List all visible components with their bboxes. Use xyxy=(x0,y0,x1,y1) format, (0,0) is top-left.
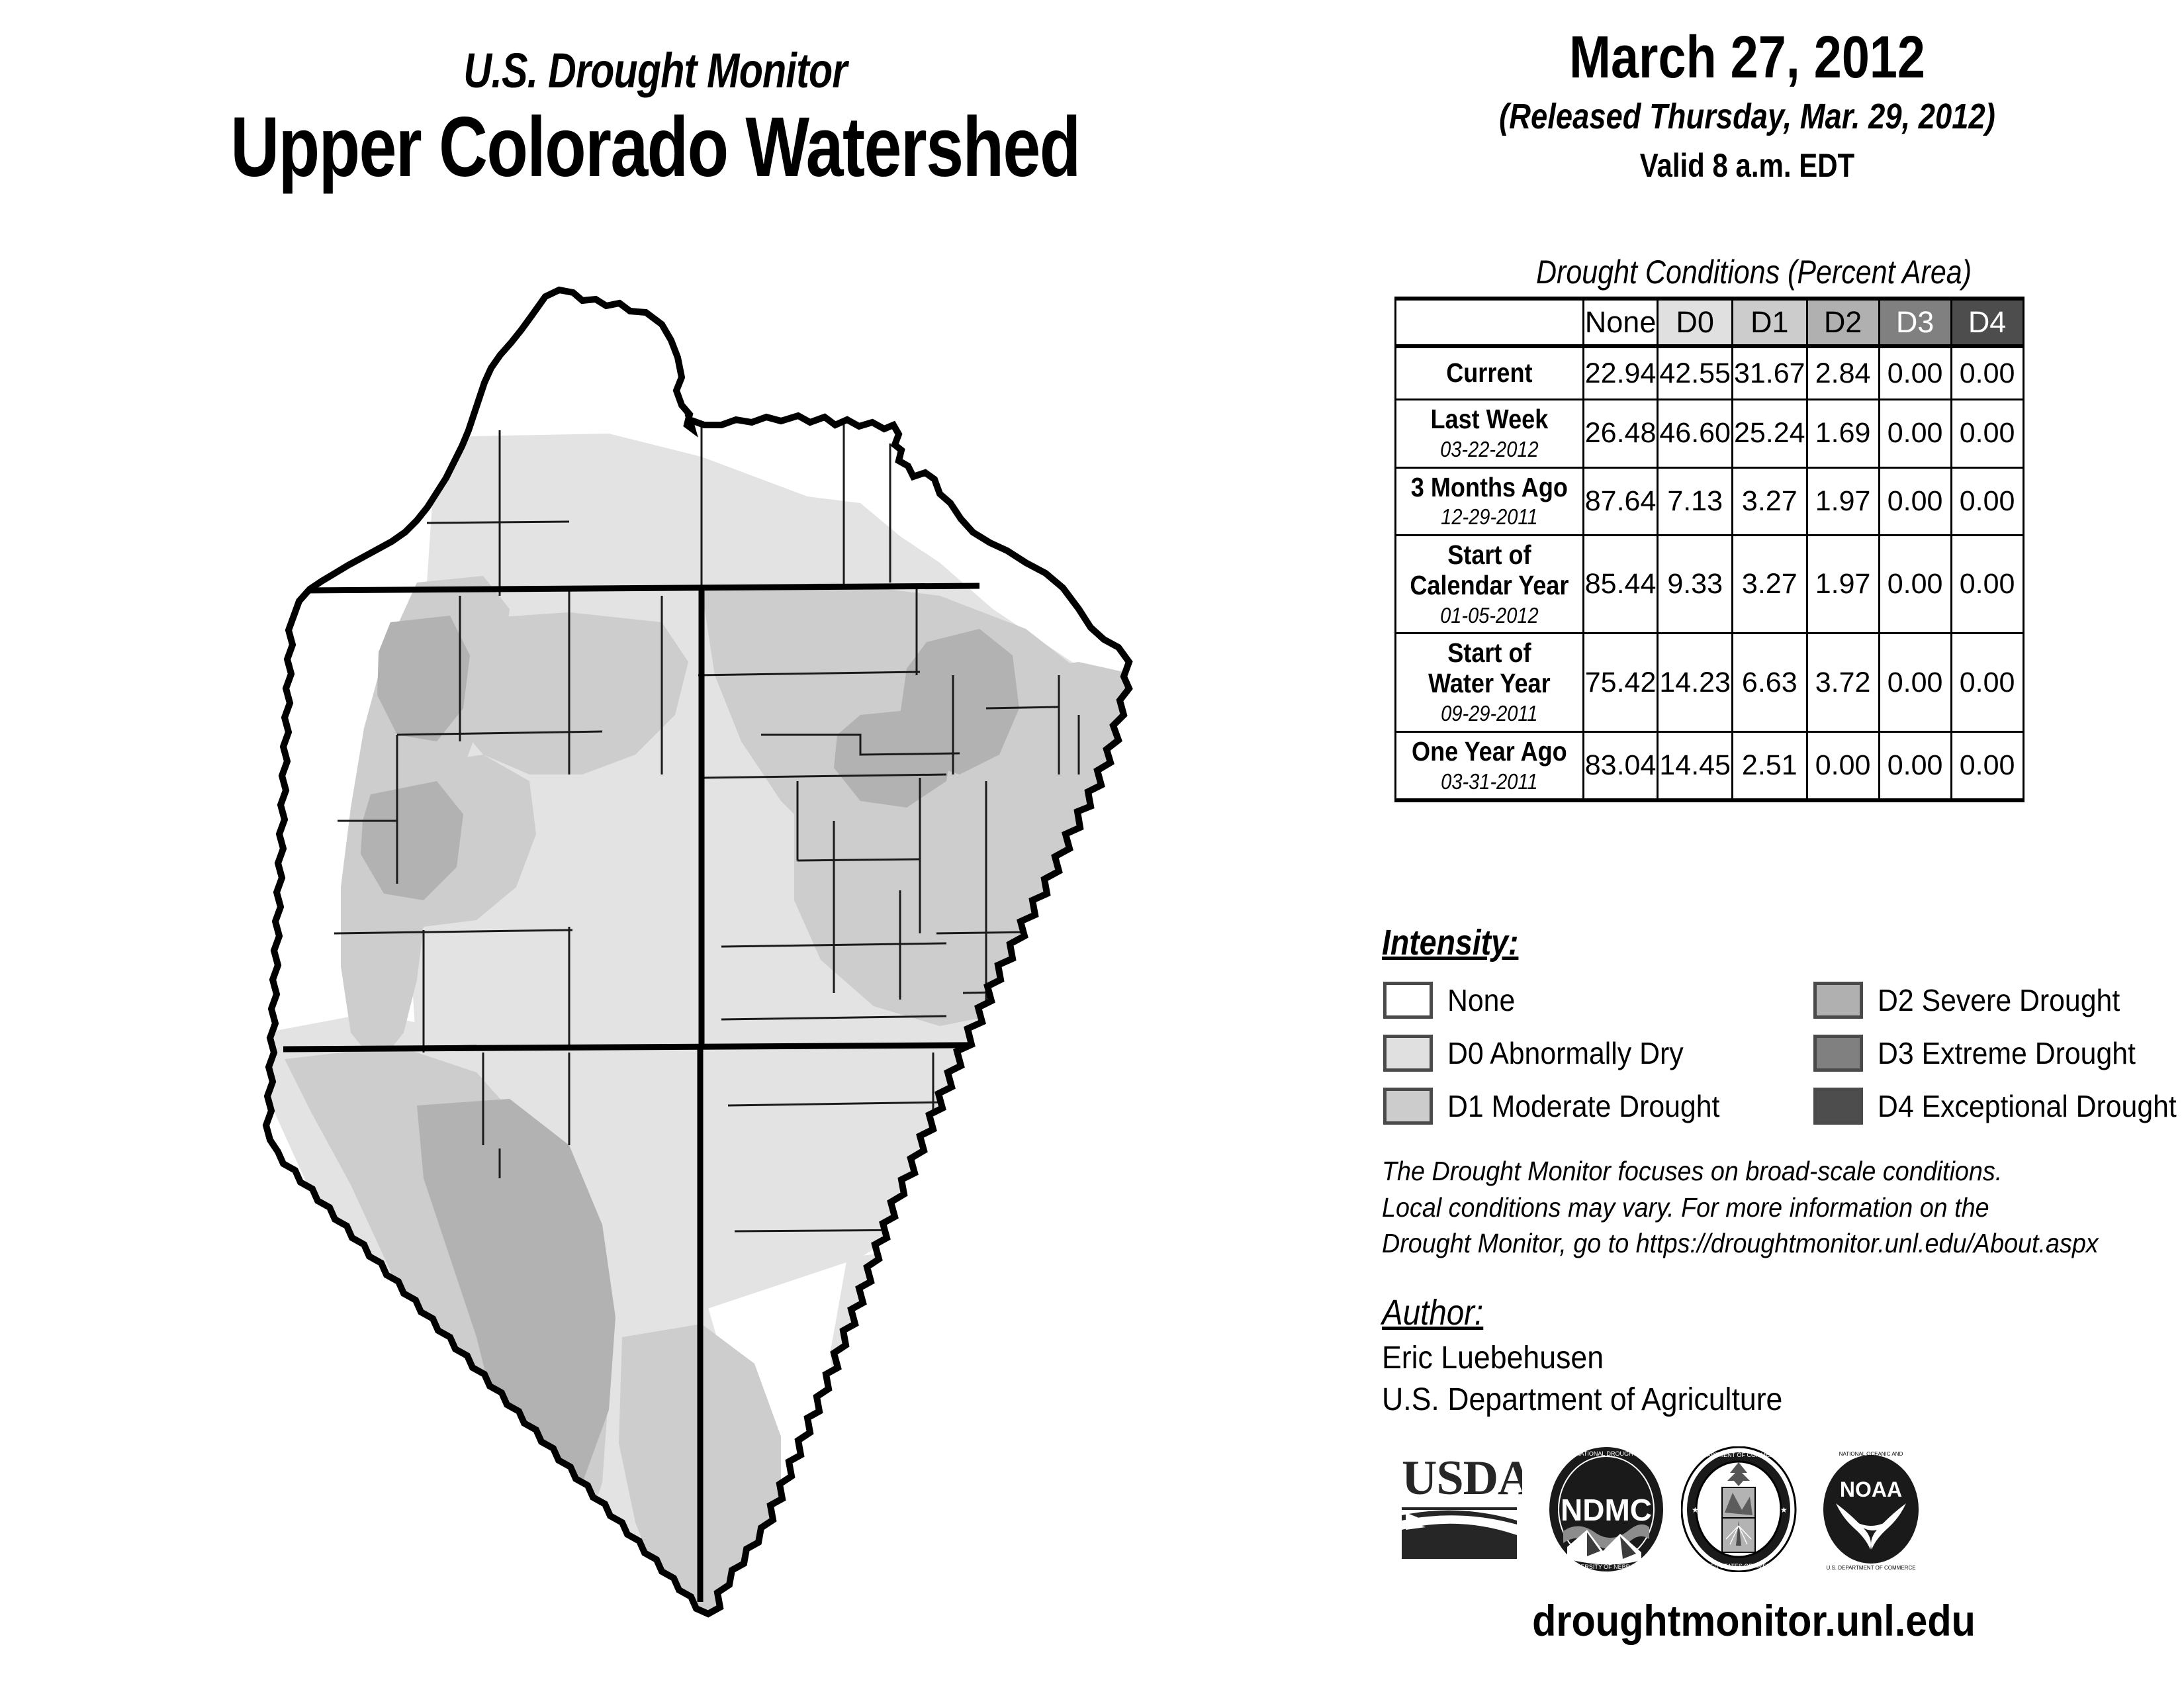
cell-d3: 0.00 xyxy=(1879,536,1951,633)
cell-d3: 0.00 xyxy=(1879,467,1951,536)
cell-d1: 2.51 xyxy=(1732,731,1807,800)
table-row: Start ofWater Year09-29-201175.4214.236.… xyxy=(1396,633,2024,731)
cell-d4: 0.00 xyxy=(1951,467,2023,536)
author-agency: U.S. Department of Agriculture xyxy=(1382,1379,1782,1421)
table-row: One Year Ago03-31-201183.0414.452.510.00… xyxy=(1396,731,2024,800)
disclaimer-line-1: Local conditions may vary. For more info… xyxy=(1382,1190,2113,1226)
cell-d1: 31.67 xyxy=(1732,346,1807,400)
author-info: Eric Luebehusen U.S. Department of Agric… xyxy=(1382,1337,1813,1421)
row-label-text: Current xyxy=(1410,358,1569,389)
cell-d0: 14.45 xyxy=(1658,731,1733,800)
svg-text:USDA: USDA xyxy=(1402,1451,1522,1505)
cell-d2: 1.97 xyxy=(1807,536,1879,633)
table-row: Current22.9442.5531.672.840.000.00 xyxy=(1396,346,2024,400)
legend-item-right-0: D2 Severe Drought xyxy=(1813,974,2184,1026)
cell-d0: 42.55 xyxy=(1658,346,1733,400)
map-drought-fills xyxy=(199,252,1191,1675)
column-header-none: None xyxy=(1583,299,1658,346)
legend-column-right: D2 Severe DroughtD3 Extreme DroughtD4 Ex… xyxy=(1813,974,2184,1133)
table-row: Last Week03-22-201226.4846.6025.241.690.… xyxy=(1396,400,2024,468)
watershed-map-svg[interactable] xyxy=(199,252,1191,1675)
row-label-date: 01-05-2012 xyxy=(1410,602,1569,629)
release-date: (Released Thursday, Mar. 29, 2012) xyxy=(1419,96,2075,137)
date-block: March 27, 2012 (Released Thursday, Mar. … xyxy=(1357,26,2138,185)
row-label-4: Start ofWater Year09-29-2011 xyxy=(1396,633,1584,731)
svg-text:NATIONAL DROUGHT: NATIONAL DROUGHT xyxy=(1576,1450,1637,1457)
map-date: March 27, 2012 xyxy=(1419,26,2075,89)
legend-swatch xyxy=(1383,982,1433,1019)
cell-none: 22.94 xyxy=(1583,346,1658,400)
column-header-d0: D0 xyxy=(1658,299,1733,346)
cell-d2: 1.97 xyxy=(1807,467,1879,536)
cell-d0: 9.33 xyxy=(1658,536,1733,633)
legend-item-left-2: D1 Moderate Drought xyxy=(1383,1080,1740,1132)
legend-item-right-2: D4 Exceptional Drought xyxy=(1813,1080,2184,1132)
legend-label: D2 Severe Drought xyxy=(1878,982,2120,1018)
intensity-heading: Intensity: xyxy=(1382,922,1518,963)
svg-text:★: ★ xyxy=(1780,1505,1788,1515)
supertitle: U.S. Drought Monitor xyxy=(131,46,1179,95)
valid-time: Valid 8 a.m. EDT xyxy=(1419,146,2075,185)
legend-label: None xyxy=(1447,982,1515,1018)
legend-swatch xyxy=(1383,1035,1433,1072)
legend-swatch xyxy=(1813,1088,1863,1125)
cell-d1: 25.24 xyxy=(1732,400,1807,468)
row-label-2: 3 Months Ago12-29-2011 xyxy=(1396,467,1584,536)
cell-d0: 14.23 xyxy=(1658,633,1733,731)
table-header-blank xyxy=(1396,299,1584,346)
cell-none: 26.48 xyxy=(1583,400,1658,468)
cell-d4: 0.00 xyxy=(1951,536,2023,633)
row-label-date: 03-22-2012 xyxy=(1410,436,1569,463)
legend-label: D4 Exceptional Drought xyxy=(1878,1088,2177,1124)
cell-d1: 3.27 xyxy=(1732,467,1807,536)
svg-text:DEPARTMENT OF COMMERCE: DEPARTMENT OF COMMERCE xyxy=(1695,1452,1782,1458)
disclaimer-line-0: The Drought Monitor focuses on broad-sca… xyxy=(1382,1153,2113,1190)
cell-none: 87.64 xyxy=(1583,467,1658,536)
row-label-date: 12-29-2011 xyxy=(1410,504,1569,530)
row-label-3: Start ofCalendar Year01-05-2012 xyxy=(1396,536,1584,633)
title-block: U.S. Drought Monitor Upper Colorado Wate… xyxy=(0,46,1310,191)
cell-d4: 0.00 xyxy=(1951,400,2023,468)
column-header-d2: D2 xyxy=(1807,299,1879,346)
legend-swatch xyxy=(1813,1035,1863,1072)
svg-text:★: ★ xyxy=(1692,1505,1699,1515)
svg-text:NATIONAL OCEANIC AND: NATIONAL OCEANIC AND xyxy=(1839,1451,1903,1457)
table-row: Start ofCalendar Year01-05-201285.449.33… xyxy=(1396,536,2024,633)
cell-none: 85.44 xyxy=(1583,536,1658,633)
svg-text:U.S. DEPARTMENT OF COMMERCE: U.S. DEPARTMENT OF COMMERCE xyxy=(1826,1565,1915,1571)
column-header-d1: D1 xyxy=(1732,299,1807,346)
svg-text:UNIVERSITY OF NEBRASKA: UNIVERSITY OF NEBRASKA xyxy=(1567,1564,1646,1570)
cell-d2: 0.00 xyxy=(1807,731,1879,800)
department-of-commerce-seal: DEPARTMENT OF COMMERCE UNITED STATES OF … xyxy=(1681,1446,1797,1572)
legend-item-left-0: None xyxy=(1383,974,1740,1026)
svg-text:UNITED STATES OF AMERICA: UNITED STATES OF AMERICA xyxy=(1696,1563,1781,1570)
svg-text:NDMC: NDMC xyxy=(1561,1493,1652,1527)
row-label-text: Start ofCalendar Year xyxy=(1410,540,1569,601)
legend-label: D0 Abnormally Dry xyxy=(1447,1035,1684,1071)
row-label-date: 03-31-2011 xyxy=(1410,769,1569,795)
row-label-5: One Year Ago03-31-2011 xyxy=(1396,731,1584,800)
cell-d2: 1.69 xyxy=(1807,400,1879,468)
column-header-d4: D4 xyxy=(1951,299,2023,346)
cell-d4: 0.00 xyxy=(1951,346,2023,400)
table-row: 3 Months Ago12-29-201187.647.133.271.970… xyxy=(1396,467,2024,536)
legend-item-right-1: D3 Extreme Drought xyxy=(1813,1027,2184,1079)
column-header-d3: D3 xyxy=(1879,299,1951,346)
cell-d1: 3.27 xyxy=(1732,536,1807,633)
row-label-text: One Year Ago xyxy=(1410,737,1569,767)
ndmc-logo: NDMC NATIONAL DROUGHT UNIVERSITY OF NEBR… xyxy=(1549,1446,1664,1572)
cell-d0: 7.13 xyxy=(1658,467,1733,536)
page-title: Upper Colorado Watershed xyxy=(131,105,1179,191)
cell-d3: 0.00 xyxy=(1879,731,1951,800)
row-label-text: Last Week xyxy=(1410,404,1569,435)
cell-d3: 0.00 xyxy=(1879,633,1951,731)
cell-d4: 0.00 xyxy=(1951,731,2023,800)
cell-d2: 3.72 xyxy=(1807,633,1879,731)
table-header-row: NoneD0D1D2D3D4 xyxy=(1396,299,2024,346)
table-caption: Drought Conditions (Percent Area) xyxy=(1412,253,2095,291)
legend-label: D1 Moderate Drought xyxy=(1447,1088,1719,1124)
row-label-text: 3 Months Ago xyxy=(1410,473,1569,503)
svg-text:NOAA: NOAA xyxy=(1840,1477,1902,1501)
d1-region-southeast xyxy=(953,1225,1092,1443)
cell-d0: 46.60 xyxy=(1658,400,1733,468)
legend-swatch xyxy=(1813,982,1863,1019)
cell-d3: 0.00 xyxy=(1879,400,1951,468)
noaa-logo: NOAA NATIONAL OCEANIC AND U.S. DEPARTMEN… xyxy=(1813,1446,1929,1572)
row-label-text: Start ofWater Year xyxy=(1410,638,1569,699)
logo-strip: USDA NDMC NATIONAL DROUGHT UNIVERSITY OF… xyxy=(1383,1446,2164,1579)
cell-none: 83.04 xyxy=(1583,731,1658,800)
d2-region-east-lobe xyxy=(1095,788,1171,880)
legend-swatch xyxy=(1383,1088,1433,1125)
disclaimer-line-2: Drought Monitor, go to https://droughtmo… xyxy=(1382,1225,2113,1262)
row-label-date: 09-29-2011 xyxy=(1410,700,1569,727)
row-label-0: Current xyxy=(1396,346,1584,400)
cell-d1: 6.63 xyxy=(1732,633,1807,731)
cell-d2: 2.84 xyxy=(1807,346,1879,400)
legend-column-left: NoneD0 Abnormally DryD1 Moderate Drought xyxy=(1383,974,1740,1133)
upper-colorado-watershed-map[interactable] xyxy=(199,252,1191,1675)
row-label-1: Last Week03-22-2012 xyxy=(1396,400,1584,468)
usda-logo: USDA xyxy=(1396,1446,1522,1562)
disclaimer-text: The Drought Monitor focuses on broad-sca… xyxy=(1382,1153,2176,1262)
cell-d3: 0.00 xyxy=(1879,346,1951,400)
author-name: Eric Luebehusen xyxy=(1382,1337,1782,1379)
drought-monitor-page: U.S. Drought Monitor Upper Colorado Wate… xyxy=(0,0,2184,1688)
author-heading: Author: xyxy=(1382,1292,1483,1333)
cell-none: 75.42 xyxy=(1583,633,1658,731)
legend-label: D3 Extreme Drought xyxy=(1878,1035,2136,1071)
cell-d4: 0.00 xyxy=(1951,633,2023,731)
legend-item-left-1: D0 Abnormally Dry xyxy=(1383,1027,1740,1079)
drought-conditions-table: NoneD0D1D2D3D4Current22.9442.5531.672.84… xyxy=(1394,297,2025,802)
d0-region-southeast xyxy=(831,1244,1072,1575)
website-url[interactable]: droughtmonitor.unl.edu xyxy=(1396,1595,2111,1646)
